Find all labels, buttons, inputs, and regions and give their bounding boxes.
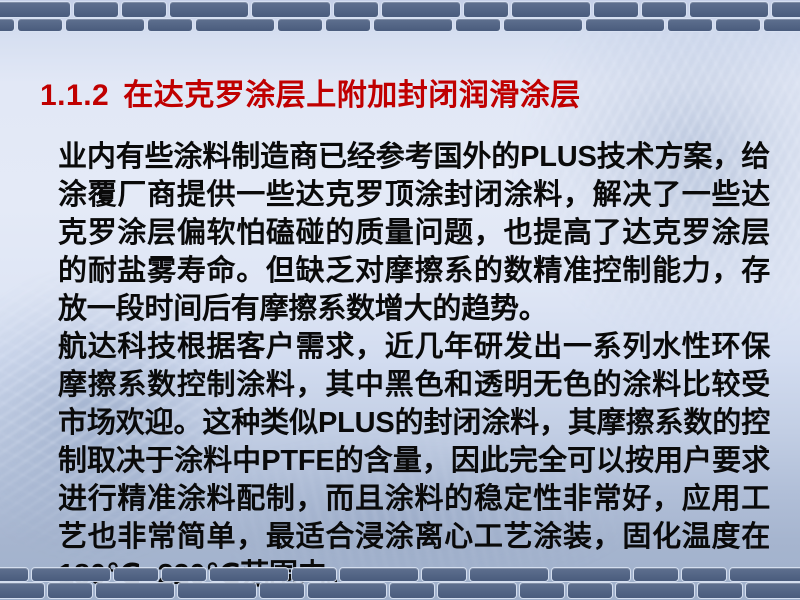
brick-tile bbox=[196, 19, 274, 31]
brick-row-lower bbox=[0, 583, 800, 598]
brick-tile bbox=[668, 19, 712, 31]
body-paragraph-1: 业内有些涂料制造商已经参考国外的PLUS技术方案，给涂覆厂商提供一些达克罗顶涂封… bbox=[58, 138, 770, 328]
brick-tile bbox=[148, 19, 192, 31]
brick-row-lower bbox=[0, 19, 800, 31]
presentation-slide: 1.1.2在达克罗涂层上附加封闭润滑涂层 业内有些涂料制造商已经参考国外的PLU… bbox=[0, 0, 800, 600]
brick-tile bbox=[32, 568, 110, 581]
brick-tile bbox=[170, 2, 248, 17]
brick-tile bbox=[122, 2, 166, 17]
brick-row-upper bbox=[0, 568, 800, 581]
brick-tile bbox=[690, 2, 768, 17]
brick-tile bbox=[438, 583, 516, 598]
slide-title: 1.1.2在达克罗涂层上附加封闭润滑涂层 bbox=[40, 70, 581, 114]
brick-tile bbox=[464, 2, 508, 17]
brick-tile bbox=[66, 19, 144, 31]
brick-tile bbox=[74, 2, 118, 17]
brick-tile bbox=[698, 583, 742, 598]
brick-tile bbox=[716, 19, 760, 31]
brick-tile bbox=[382, 2, 460, 17]
brick-tile bbox=[96, 583, 174, 598]
brick-tile bbox=[334, 2, 378, 17]
brick-tile bbox=[390, 583, 434, 598]
brick-tile bbox=[0, 583, 44, 598]
brick-tile bbox=[586, 19, 664, 31]
slide-title-text: 在达克罗涂层上附加封闭润滑涂层 bbox=[123, 79, 581, 112]
bottom-brick-border bbox=[0, 566, 800, 600]
brick-tile bbox=[0, 2, 70, 17]
top-brick-border bbox=[0, 0, 800, 32]
brick-tile bbox=[422, 568, 466, 581]
brick-tile bbox=[18, 19, 62, 31]
brick-tile bbox=[730, 568, 800, 581]
brick-tile bbox=[764, 19, 800, 31]
slide-title-number: 1.1.2 bbox=[40, 79, 109, 112]
brick-tile bbox=[520, 583, 564, 598]
brick-tile bbox=[374, 19, 452, 31]
brick-tile bbox=[470, 568, 548, 581]
brick-tile bbox=[456, 19, 500, 31]
brick-tile bbox=[0, 568, 28, 581]
brick-tile bbox=[772, 2, 800, 17]
brick-tile bbox=[210, 568, 288, 581]
brick-tile bbox=[260, 583, 304, 598]
brick-tile bbox=[162, 568, 206, 581]
body-paragraph-2: 航达科技根据客户需求，近几年研发出一系列水性环保摩擦系数控制涂料，其中黑色和透明… bbox=[58, 328, 770, 594]
brick-tile bbox=[568, 583, 612, 598]
brick-tile bbox=[340, 568, 418, 581]
brick-tile bbox=[308, 583, 386, 598]
brick-tile bbox=[594, 2, 638, 17]
brick-tile bbox=[682, 568, 726, 581]
brick-row-upper bbox=[0, 2, 800, 17]
brick-tile bbox=[252, 2, 330, 17]
brick-tile bbox=[616, 583, 694, 598]
brick-tile bbox=[746, 583, 800, 598]
brick-tile bbox=[504, 19, 582, 31]
brick-tile bbox=[178, 583, 256, 598]
brick-tile bbox=[114, 568, 158, 581]
brick-tile bbox=[634, 568, 678, 581]
brick-tile bbox=[48, 583, 92, 598]
brick-tile bbox=[552, 568, 630, 581]
body-paragraph-1-text: 业内有些涂料制造商已经参考国外的PLUS技术方案，给涂覆厂商提供一些达克罗顶涂封… bbox=[58, 138, 770, 328]
brick-tile bbox=[278, 19, 322, 31]
brick-tile bbox=[642, 2, 686, 17]
body-paragraph-2-text: 航达科技根据客户需求，近几年研发出一系列水性环保摩擦系数控制涂料，其中黑色和透明… bbox=[58, 328, 770, 594]
brick-tile bbox=[0, 19, 14, 31]
brick-tile bbox=[292, 568, 336, 581]
brick-tile bbox=[326, 19, 370, 31]
brick-tile bbox=[512, 2, 590, 17]
